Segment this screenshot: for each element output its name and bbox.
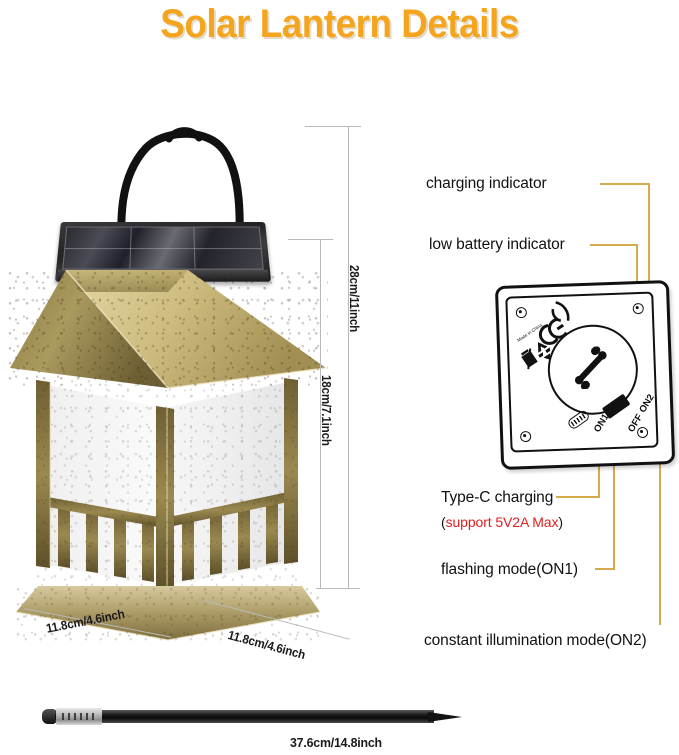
- callout-constant-illumination-mode: constant illumination mode(ON2): [424, 632, 647, 650]
- solar-glass: [62, 227, 264, 270]
- dim-line-total-height: [348, 126, 349, 588]
- leader-typec-h: [556, 496, 600, 498]
- ground-stake-illustration: [28, 700, 458, 734]
- callout-type-c-note: (support 5V2A Max): [441, 514, 563, 530]
- callout-charging-indicator: charging indicator: [426, 175, 547, 193]
- leader-charging-h: [600, 183, 650, 185]
- stake-cap: [42, 709, 55, 724]
- lantern-body: [36, 378, 298, 598]
- lantern-base: [16, 586, 320, 642]
- lantern-roof: [8, 270, 328, 390]
- leader-flashing-v: [613, 452, 615, 570]
- dim-label-stake-length: 37.6cm/14.8inch: [290, 735, 382, 750]
- screw-slot-icon: [569, 346, 612, 389]
- control-panel-diagram: Made in China ON1 OFF ON2: [495, 280, 673, 468]
- ce-icon: [537, 318, 568, 347]
- leader-lowbattery-h: [590, 244, 638, 246]
- callout-type-c-note-text: support 5V2A Max: [446, 514, 559, 530]
- callout-low-battery-indicator: low battery indicator: [429, 236, 565, 254]
- stake-collar: [56, 708, 102, 725]
- paren-close: ): [558, 514, 563, 530]
- page-title: Solar Lantern Details: [27, 2, 652, 47]
- leader-flashing-h: [595, 568, 615, 570]
- solar-cell-grid: [63, 228, 262, 269]
- callout-type-c-charging: Type-C charging: [441, 489, 553, 507]
- dim-label-body-height: 18cm/7.1inch: [319, 375, 333, 446]
- leader-constant-v: [659, 440, 661, 625]
- dim-label-total-height: 28cm/11inch: [347, 265, 361, 332]
- stake-tip: [428, 712, 462, 722]
- lantern-illustration: [8, 120, 328, 640]
- dim-tick-bottom: [316, 588, 360, 589]
- dim-tick-top: [305, 126, 361, 127]
- callout-flashing-mode: flashing mode(ON1): [441, 561, 578, 579]
- product-detail-image: Solar Lantern Details: [0, 0, 679, 755]
- dim-tick-body-top: [288, 239, 333, 240]
